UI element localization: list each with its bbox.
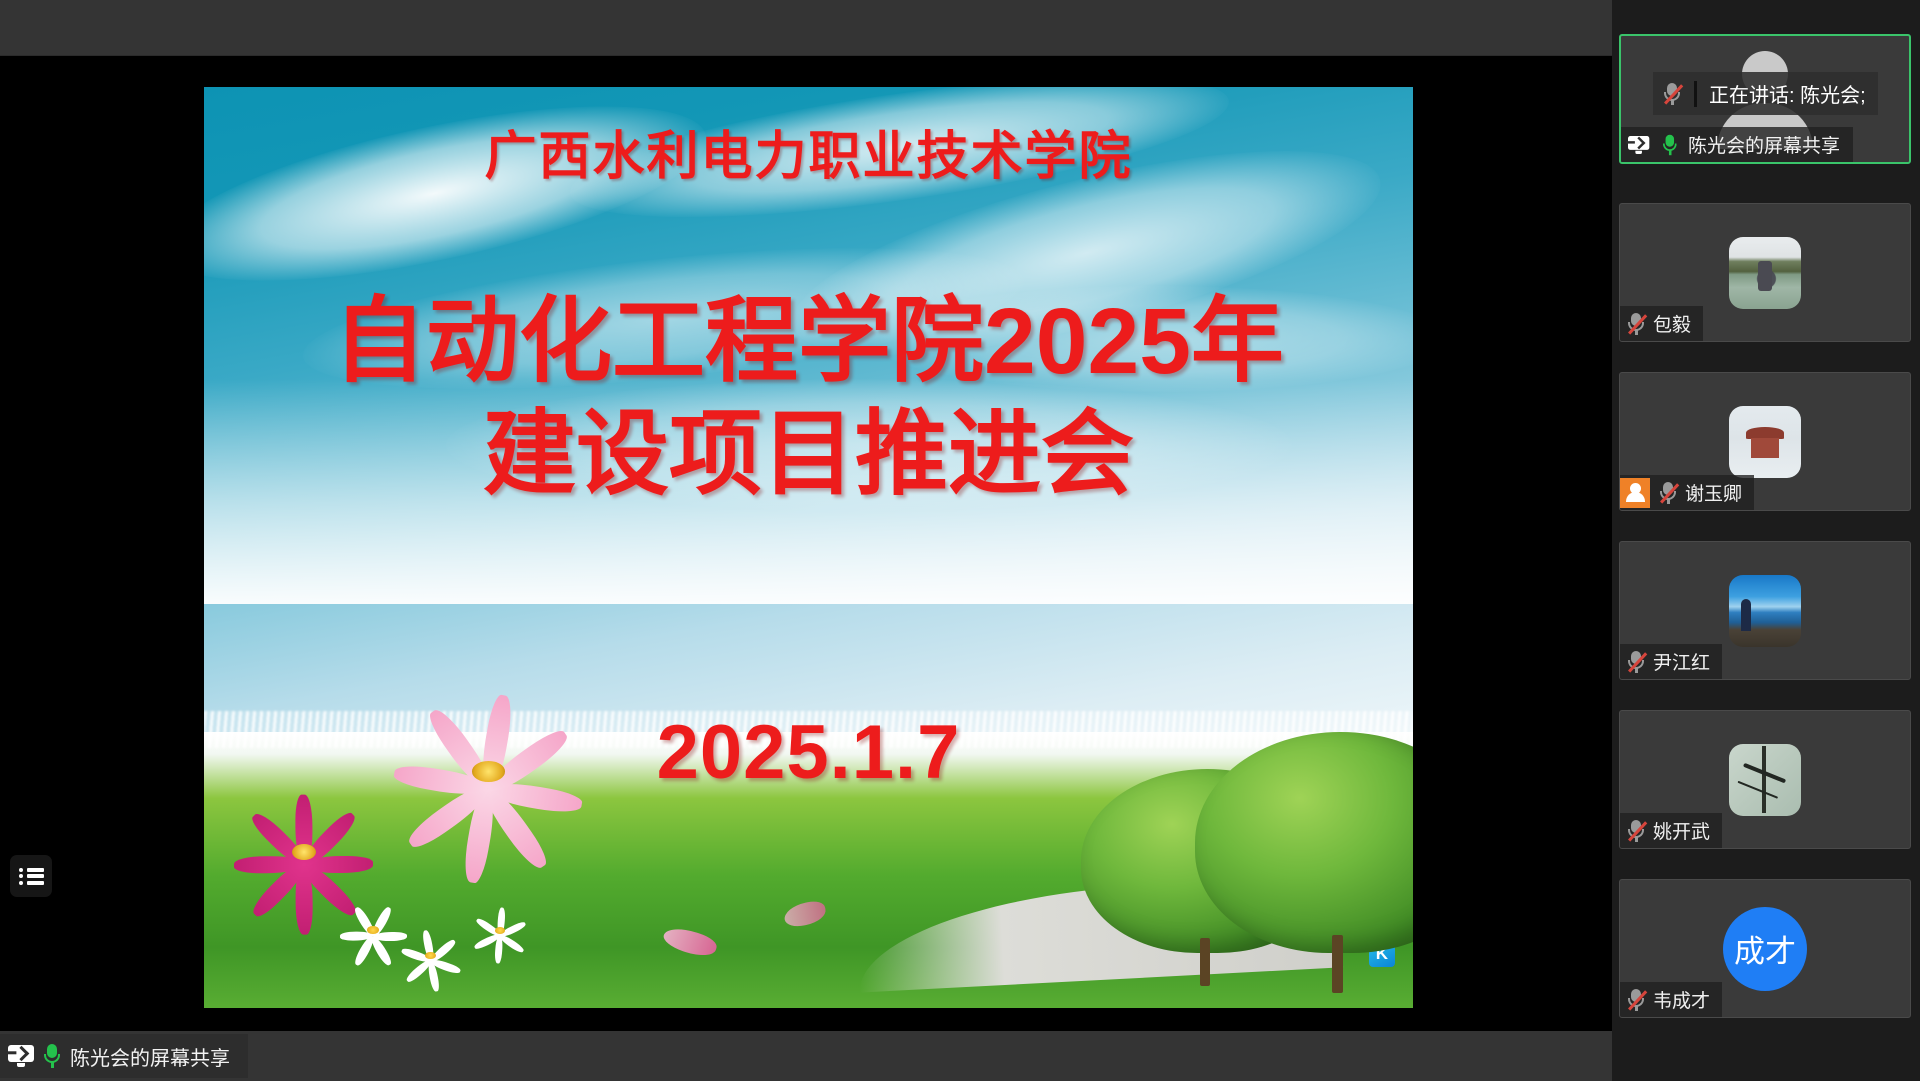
shared-screen-stage[interactable]: 广西水利电力职业技术学院 自动化工程学院2025年 建设项目推进会 2025.1…	[0, 56, 1612, 1031]
mic-muted-icon	[1659, 481, 1678, 505]
meeting-window: 广西水利电力职业技术学院 自动化工程学院2025年 建设项目推进会 2025.1…	[0, 0, 1920, 1081]
participant-tile-xieyuqing[interactable]: 谢玉卿	[1619, 372, 1911, 511]
participant-name-bar: 韦成才	[1620, 982, 1722, 1017]
cosmos-flower-magenta	[228, 805, 379, 906]
participant-name: 韦成才	[1653, 986, 1710, 1013]
screen-share-icon	[8, 1045, 34, 1067]
screen-share-status-chip[interactable]: 陈光会的屏幕共享	[0, 1034, 248, 1078]
overlay-divider	[1694, 81, 1697, 107]
mic-muted-icon	[1663, 82, 1682, 106]
screen-share-icon	[1628, 135, 1649, 153]
participant-tile-yinjianghong[interactable]: 尹江红	[1619, 541, 1911, 680]
presentation-slide: 广西水利电力职业技术学院 自动化工程学院2025年 建设项目推进会 2025.1…	[204, 87, 1413, 1008]
mic-muted-icon	[1627, 312, 1646, 336]
mic-muted-icon	[1627, 988, 1646, 1012]
mic-muted-icon	[1627, 650, 1646, 674]
avatar	[1729, 744, 1801, 816]
daisy-flower	[470, 911, 530, 952]
list-view-icon	[19, 865, 44, 887]
list-view-button[interactable]	[10, 855, 52, 897]
speaking-indicator: 正在讲话: 陈光会;	[1653, 72, 1878, 115]
participant-tile-active-speaker[interactable]: 正在讲话: 陈光会; 陈光会的屏幕共享	[1619, 34, 1911, 164]
window-top-bar	[0, 0, 1612, 56]
participant-tile-baoyi[interactable]: 包毅	[1619, 203, 1911, 342]
avatar	[1729, 575, 1801, 647]
speaking-label: 正在讲话: 陈光会;	[1709, 79, 1866, 108]
daisy-flower	[397, 934, 463, 980]
participant-name-bar: 尹江红	[1620, 644, 1722, 679]
participant-name: 谢玉卿	[1685, 479, 1742, 506]
avatar	[1729, 406, 1801, 478]
participant-share-tag: 陈光会的屏幕共享	[1621, 127, 1853, 162]
participant-tile-weichengcai[interactable]: 成才 韦成才	[1619, 879, 1911, 1018]
participant-name-bar: 谢玉卿	[1620, 475, 1754, 510]
participant-name-bar: 姚开武	[1620, 813, 1722, 848]
cosmos-flower-pink	[385, 713, 591, 842]
slide-main-title: 自动化工程学院2025年 建设项目推进会	[204, 285, 1413, 512]
participant-name: 姚开武	[1653, 817, 1710, 844]
participant-name: 包毅	[1653, 310, 1691, 337]
participant-share-label: 陈光会的屏幕共享	[1688, 131, 1840, 158]
host-badge-icon	[1620, 478, 1650, 508]
mic-on-icon	[1663, 134, 1677, 154]
mic-muted-icon	[1627, 819, 1646, 843]
bottom-status-bar: 陈光会的屏幕共享	[0, 1031, 1612, 1081]
avatar	[1729, 237, 1801, 309]
participant-name-bar: 包毅	[1620, 306, 1703, 341]
mic-on-icon	[44, 1044, 60, 1068]
slide-organization-name: 广西水利电力职业技术学院	[204, 114, 1413, 189]
slide-title-line-1: 自动化工程学院2025年	[204, 285, 1413, 398]
participants-panel[interactable]: 正在讲话: 陈光会; 陈光会的屏幕共享 包毅	[1612, 0, 1920, 1081]
screen-share-status-label: 陈光会的屏幕共享	[70, 1042, 230, 1071]
tree-illustration	[1195, 732, 1413, 953]
avatar: 成才	[1723, 907, 1807, 991]
slide-title-line-2: 建设项目推进会	[204, 398, 1413, 511]
participant-name: 尹江红	[1653, 648, 1710, 675]
participant-tile-yaokaiwu[interactable]: 姚开武	[1619, 710, 1911, 849]
